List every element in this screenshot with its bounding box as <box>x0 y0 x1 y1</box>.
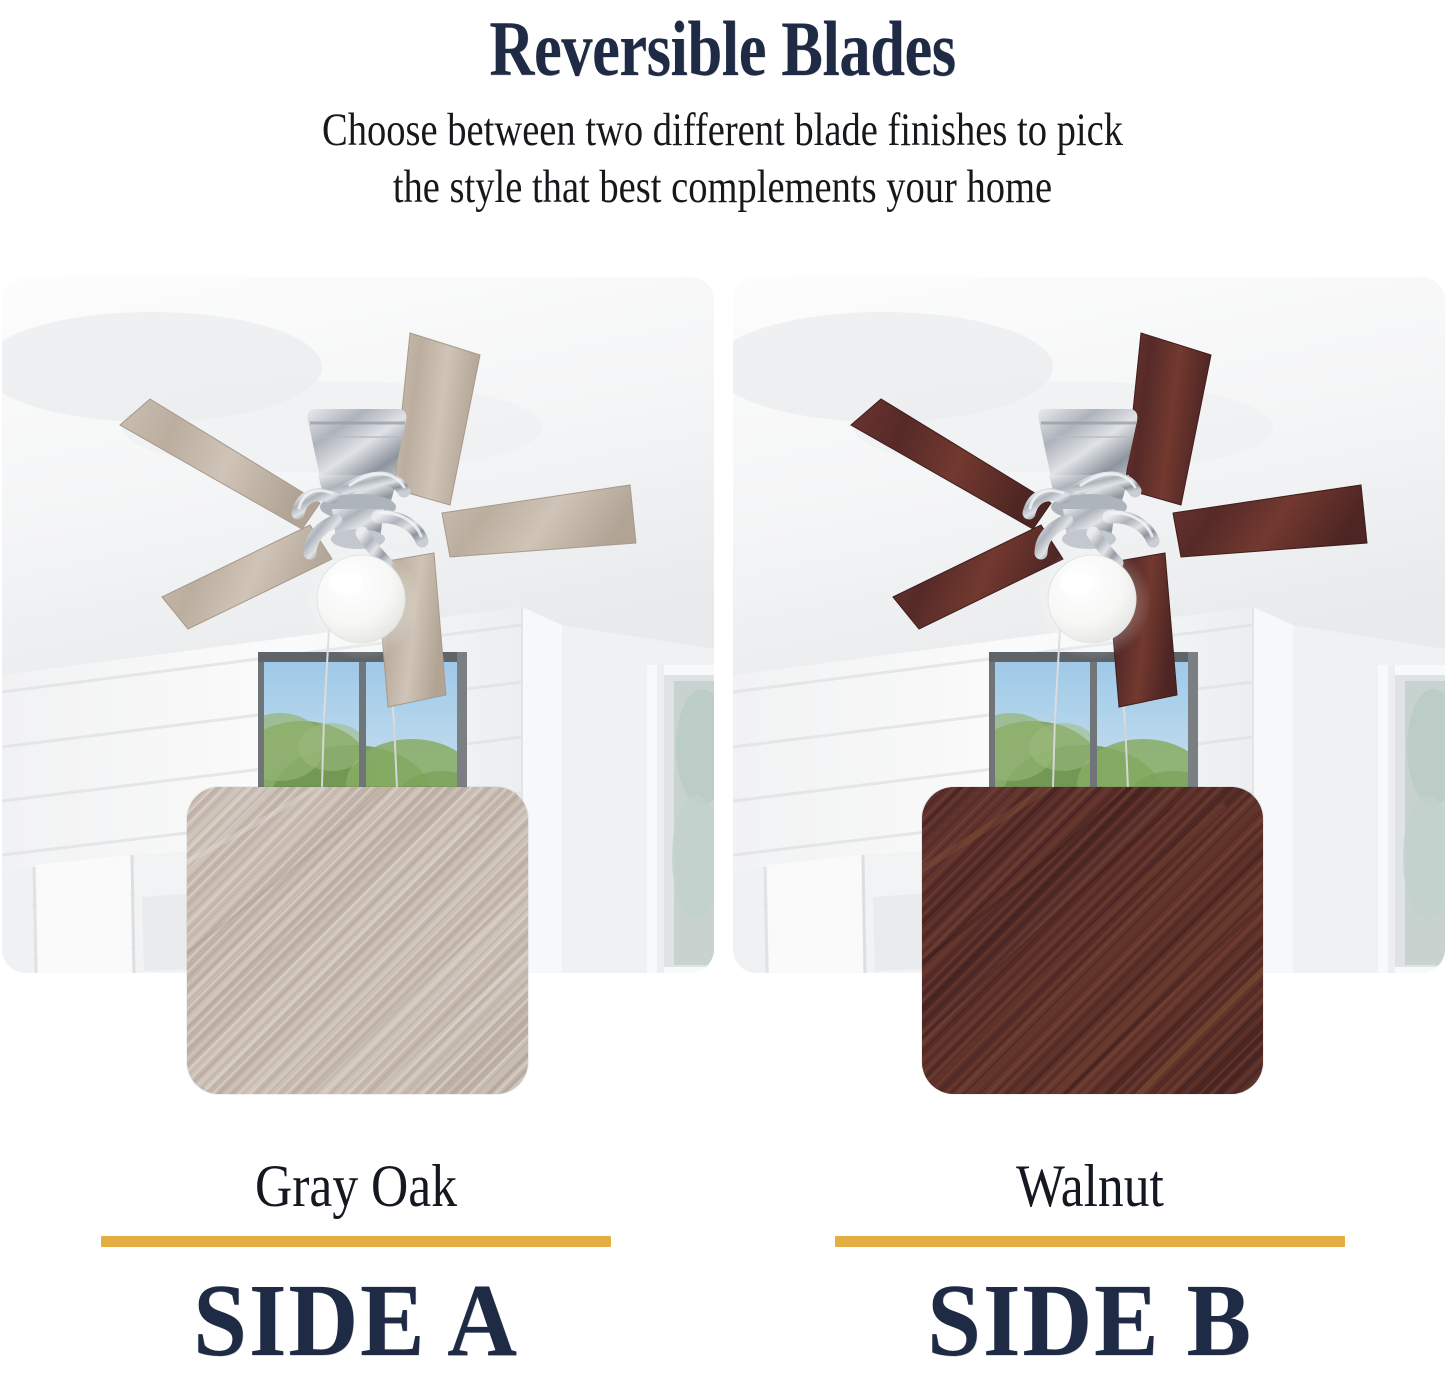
page-title: Reversible Blades <box>145 0 1301 92</box>
side-label-a: SIDE A <box>77 1265 635 1377</box>
gray-oak-swatch <box>187 787 528 1094</box>
light-globe <box>317 555 405 643</box>
doorway <box>647 665 714 973</box>
gray-oak-grain <box>187 787 528 1094</box>
finish-name-side-a: Gray Oak <box>98 1152 614 1220</box>
light-globe <box>1048 555 1136 643</box>
gold-divider-side-a <box>101 1236 611 1247</box>
caption-side-a: Gray Oak SIDE A <box>56 1152 656 1377</box>
walnut-grain <box>922 787 1263 1094</box>
finish-name-side-b: Walnut <box>832 1152 1348 1220</box>
doorway <box>1378 665 1445 973</box>
header: Reversible Blades Choose between two dif… <box>0 0 1445 216</box>
caption-side-b: Walnut SIDE B <box>790 1152 1390 1377</box>
page-subtitle: Choose between two different blade finis… <box>130 102 1315 216</box>
gold-divider-side-b <box>835 1236 1345 1247</box>
side-label-b: SIDE B <box>811 1265 1369 1377</box>
infographic-page: Reversible Blades Choose between two dif… <box>0 0 1445 1390</box>
walnut-swatch <box>922 787 1263 1094</box>
